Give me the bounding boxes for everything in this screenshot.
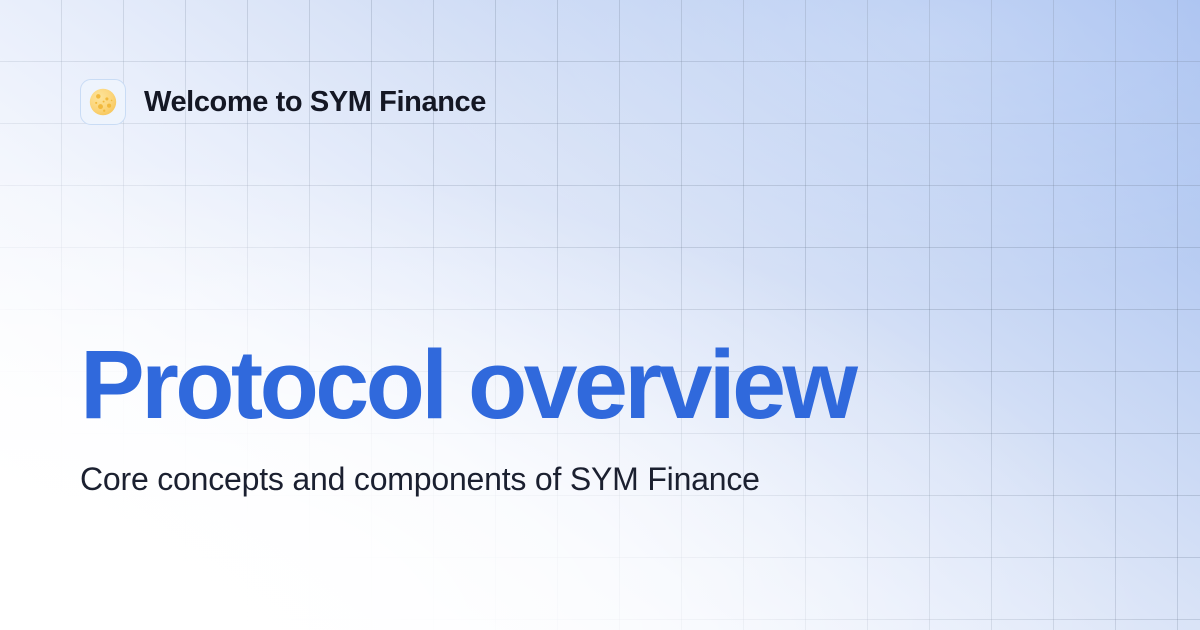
card-content: Welcome to SYM Finance Protocol overview… xyxy=(0,0,1200,630)
brand-eyebrow-row: Welcome to SYM Finance xyxy=(80,79,486,125)
brand-badge xyxy=(80,79,126,125)
page-subtitle: Core concepts and components of SYM Fina… xyxy=(80,459,780,500)
og-card-canvas: Welcome to SYM Finance Protocol overview… xyxy=(0,0,1200,630)
page-title: Protocol overview xyxy=(80,336,1120,433)
hero-text-block: Protocol overview Core concepts and comp… xyxy=(80,336,1120,500)
eyebrow-label: Welcome to SYM Finance xyxy=(144,88,486,117)
cookie-icon xyxy=(87,86,119,118)
